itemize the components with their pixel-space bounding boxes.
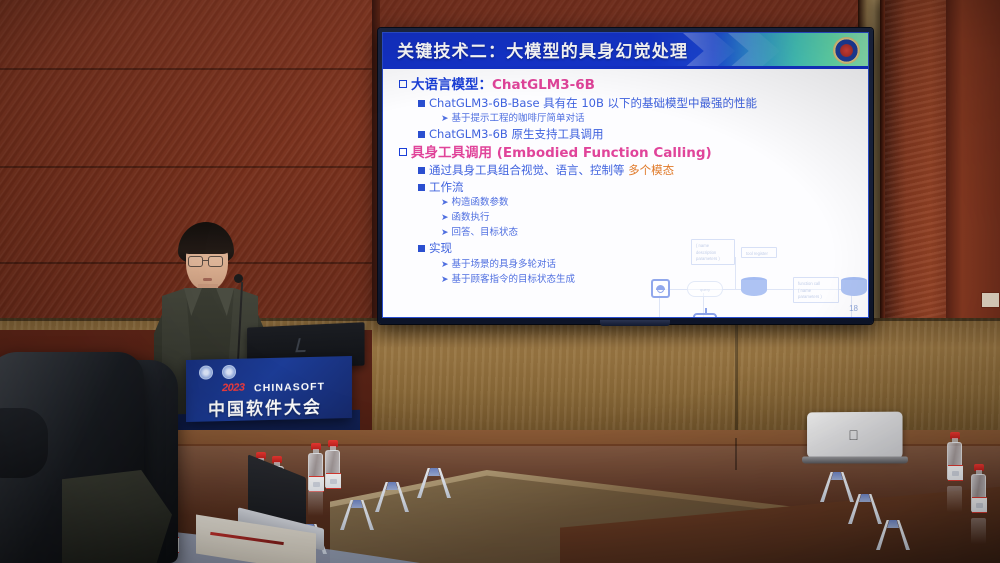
bullet-text: 通过具身工具组合视觉、语言、控制等 — [429, 163, 628, 177]
placard-tip — [386, 482, 398, 490]
laptop-lid:  — [807, 412, 903, 459]
filled-square-icon — [418, 131, 425, 138]
slide-content: 大语言模型：ChatGLM3-6B ChatGLM3-6B-Base 具有在 1… — [383, 69, 868, 318]
bullet-text: 基于提示工程的咖啡厅简单对话 — [452, 113, 585, 124]
placard-right-face — [438, 468, 451, 498]
wall-plaque — [981, 292, 1000, 308]
wall-trim-vertical — [735, 318, 738, 438]
bullet-text: 实现 — [429, 241, 452, 255]
wall-seam — [0, 166, 372, 168]
hollow-square-icon — [399, 148, 407, 156]
table-seam — [735, 438, 737, 470]
glasses-bridge — [203, 260, 208, 261]
bullet-text: 构造函数参数 — [452, 197, 509, 208]
bottle-label — [326, 473, 341, 489]
apple-logo-icon:  — [847, 428, 860, 443]
hollow-square-icon — [399, 80, 407, 88]
name-card-placard[interactable] — [417, 468, 451, 498]
placard-right-face — [897, 520, 910, 550]
bottle-label — [948, 465, 963, 481]
podium-sign: 2023 CHINASOFT 中国软件大会 — [186, 356, 352, 422]
placard-left-face — [876, 520, 889, 550]
bullet-accent: ChatGLM3-6B — [492, 77, 595, 93]
face-bottom — [657, 288, 664, 293]
slide-title: 关键技术二：大模型的具身幻觉处理 — [397, 37, 688, 62]
placard-left-face — [848, 494, 861, 524]
placard-left-face — [340, 500, 353, 530]
bottle-reflection — [947, 486, 962, 512]
name-card-placard[interactable] — [876, 520, 910, 550]
robot-icon — [693, 313, 717, 318]
placard-right-face — [361, 500, 374, 530]
microphone-head — [234, 274, 243, 283]
slide-header-band: 关键技术二：大模型的具身幻觉处理 — [383, 33, 868, 69]
conference-emblem-icon — [199, 365, 213, 379]
laptop-base — [802, 457, 909, 464]
bullet-text: ChatGLM3-6B 原生支持工具调用 — [429, 127, 603, 141]
bottle-body — [971, 474, 986, 512]
placard-tip — [831, 472, 843, 480]
bullet-l2-base-perf: ChatGLM3-6B-Base 具有在 10B 以下的基础模型中最强的性能 — [418, 98, 868, 110]
placard-tip — [351, 500, 363, 508]
bullet-l1-embodied-fc: 具身工具调用 (Embodied Function Calling) — [399, 147, 868, 161]
bullet-text: 具身工具调用 (Embodied Function Calling) — [411, 145, 712, 161]
conference-room-scene: 关键技术二：大模型的具身幻觉处理 大语言模型：ChatGLM3-6B ChatG… — [0, 0, 1000, 563]
slide-page-number: 18 — [849, 304, 858, 313]
conference-emblem-icon — [222, 365, 236, 379]
arrow-icon: ➤ — [441, 229, 449, 238]
function-call-box: function call( nameparameters ) — [793, 277, 839, 303]
bullet-l3-exec: ➤函数执行 — [441, 213, 868, 223]
glasses-right-lens — [208, 256, 223, 267]
query-cloud: query — [687, 281, 723, 297]
filled-square-icon — [418, 167, 425, 174]
arrow-icon: ➤ — [441, 115, 449, 124]
database-cylinder-2 — [841, 277, 867, 299]
filled-square-icon — [418, 245, 425, 252]
podium-year: 2023 — [222, 382, 244, 395]
placard-tip — [859, 494, 871, 502]
arrow-icon: ➤ — [441, 199, 449, 208]
user-face-icon — [651, 279, 670, 298]
bottle-body — [947, 442, 962, 480]
bullet-text: ChatGLM3-6B-Base 具有在 10B 以下的基础模型中最强的性能 — [429, 96, 757, 110]
name-card-placard[interactable] — [375, 482, 409, 512]
robot-antenna — [705, 308, 707, 315]
presenter-fringe — [181, 234, 231, 254]
bottle-reflection — [971, 518, 986, 544]
bullet-l3-build-args: ➤构造函数参数 — [441, 198, 868, 208]
placard-left-face — [375, 482, 388, 512]
flow-line — [663, 289, 793, 290]
bullet-text: 工作流 — [429, 180, 464, 194]
bullet-text: 函数执行 — [452, 212, 490, 223]
bullet-text: 基于顾客指令的目标状态生成 — [452, 274, 576, 285]
bottle-label — [972, 497, 987, 513]
bullet-l1-llm: 大语言模型：ChatGLM3-6B — [399, 79, 868, 93]
bullet-accent: 多个模态 — [628, 163, 674, 177]
tool-register-box: tool register — [741, 247, 777, 258]
bullet-l2-multimodal: 通过具身工具组合视觉、语言、控制等 多个模态 — [418, 165, 868, 177]
database-cylinder-1 — [741, 277, 767, 299]
wall-seam — [0, 68, 372, 70]
placard-left-face — [417, 468, 430, 498]
display-screen[interactable]: 关键技术二：大模型的具身幻觉处理 大语言模型：ChatGLM3-6B ChatG… — [382, 32, 869, 318]
silver-laptop[interactable]:  — [806, 412, 902, 466]
bullet-text: 回答、目标状态 — [452, 227, 519, 238]
bottle-body — [325, 450, 340, 488]
arrow-icon: ➤ — [441, 276, 449, 285]
bullet-text: 大语言模型： — [411, 77, 492, 93]
function-calling-flow-diagram: ( namedescriptionparameters ) tool regis… — [635, 237, 863, 318]
bullet-l2-native-tools: ChatGLM3-6B 原生支持工具调用 — [418, 129, 868, 141]
filled-square-icon — [418, 100, 425, 107]
wall-display[interactable]: 关键技术二：大模型的具身幻觉处理 大语言模型：ChatGLM3-6B ChatG… — [378, 28, 873, 324]
name-card-placard[interactable] — [340, 500, 374, 530]
arrow-icon: ➤ — [441, 261, 449, 270]
display-stand — [600, 320, 670, 326]
placard-left-face — [820, 472, 833, 502]
presenter-mouth — [203, 278, 212, 281]
arrow-icon: ➤ — [441, 214, 449, 223]
placard-tip — [428, 468, 440, 476]
filled-square-icon — [418, 184, 425, 191]
flow-line — [735, 257, 736, 289]
bullet-l3-prompt-cafe: ➤基于提示工程的咖啡厅简单对话 — [441, 114, 868, 124]
chevron-decoration — [728, 33, 780, 69]
podium-title-cn: 中国软件大会 — [208, 393, 322, 421]
bullet-text: 基于场景的具身多轮对话 — [452, 259, 557, 270]
placard-right-face — [396, 482, 409, 512]
university-emblem-icon — [833, 37, 860, 64]
placard-tip — [887, 520, 899, 528]
glasses-left-lens — [188, 256, 203, 267]
laptop-logo-icon — [295, 338, 308, 352]
tool-description-box: ( namedescriptionparameters ) — [691, 239, 735, 265]
chevron-decoration — [683, 33, 735, 69]
bullet-l2-workflow: 工作流 — [418, 182, 868, 194]
emblem-center — [840, 44, 853, 57]
chair-armrest — [0, 408, 48, 478]
